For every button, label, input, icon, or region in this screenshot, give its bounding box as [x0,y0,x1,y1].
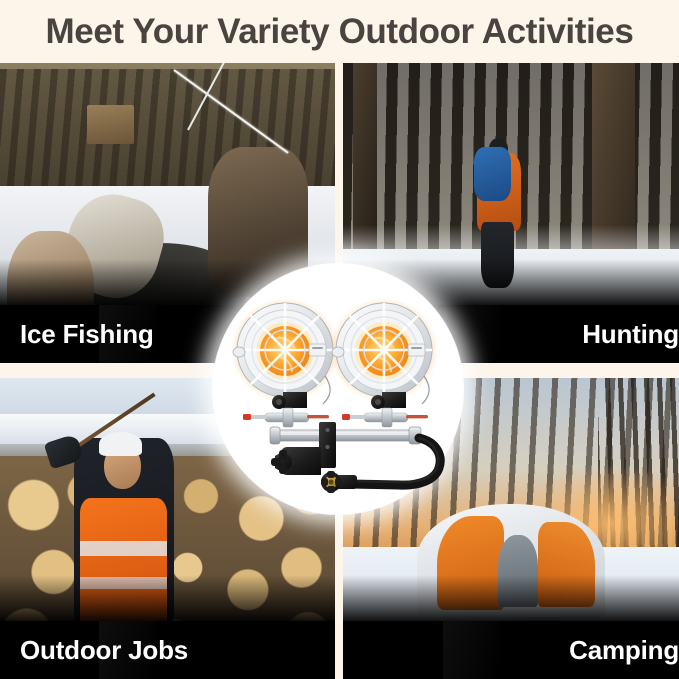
burner-head-left [231,298,339,402]
control-valve-right [342,408,428,427]
product-image-dual-propane-heater [213,264,463,514]
panel-label-outdoor-jobs: Outdoor Jobs [20,635,188,666]
product-spotlight-circle [213,264,463,514]
panel-label-ice-fishing: Ice Fishing [20,319,154,350]
label-band-outdoor-jobs: Outdoor Jobs [0,621,335,679]
burner-head-right [330,298,438,402]
control-valve-left [243,408,329,427]
panel-label-camping: Camping [569,635,679,666]
label-band-camping: Camping [343,621,679,679]
page-title: Meet Your Variety Outdoor Activities [46,12,634,52]
title-bar: Meet Your Variety Outdoor Activities [0,0,679,63]
panel-label-hunting: Hunting [582,319,679,350]
marketing-image: Meet Your Variety Outdoor Activities Ice… [0,0,679,679]
regulator-and-hose [321,438,440,493]
manifold-bar [270,427,421,444]
